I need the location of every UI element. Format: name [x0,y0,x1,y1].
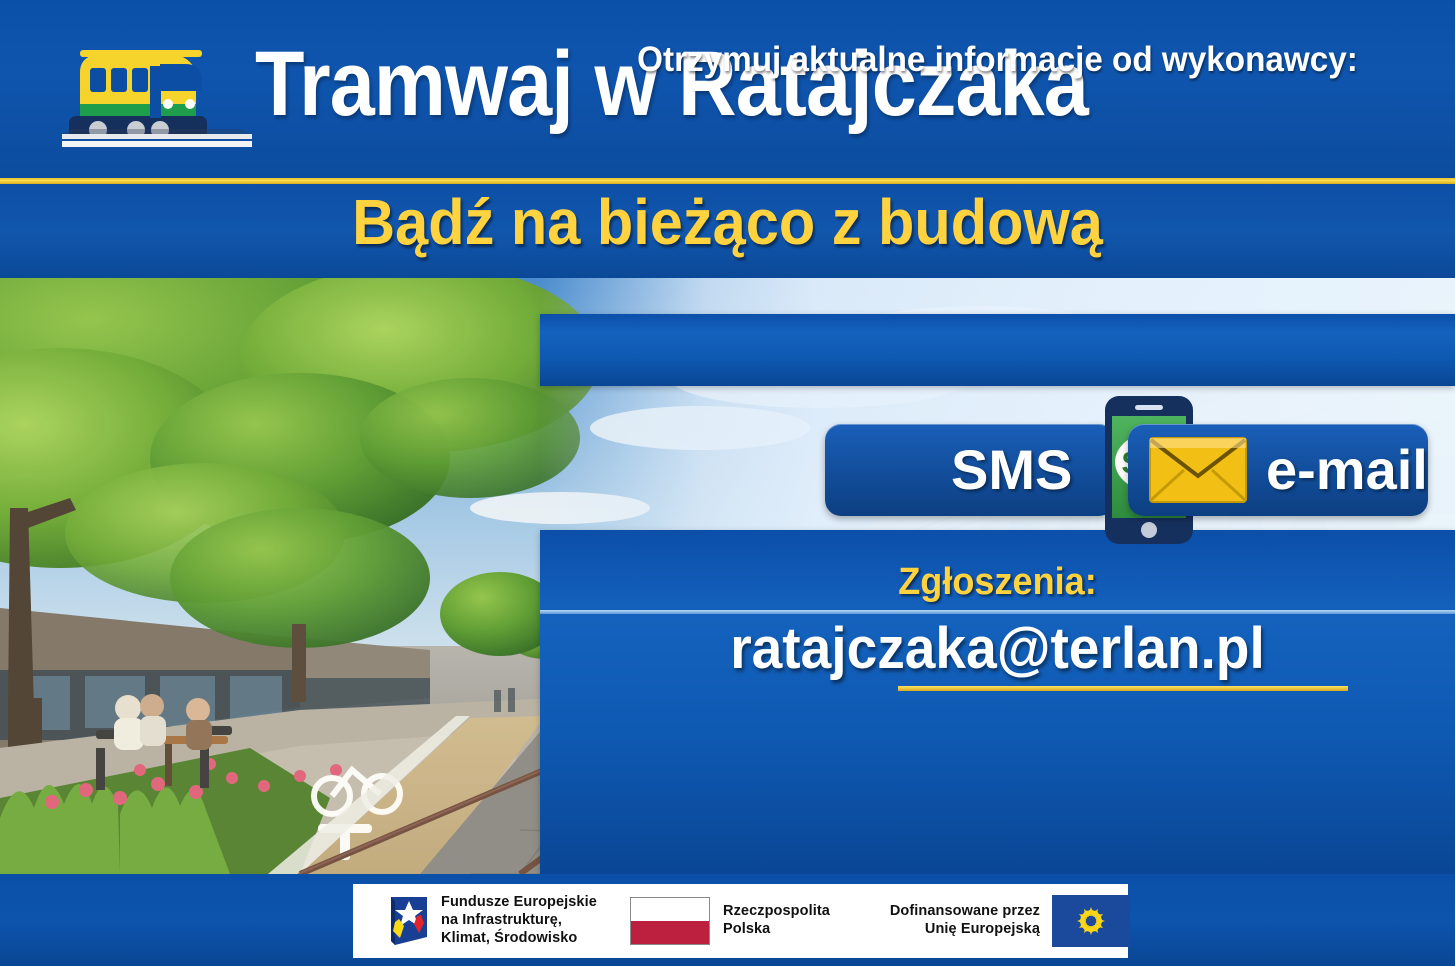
pl-logo-text: Rzeczpospolita Polska [723,903,853,939]
contact-band-separator [540,610,1455,614]
sms-channel-pill[interactable]: SMS SMS [825,424,1115,516]
email-label: e-mail [1266,442,1428,498]
sms-label: SMS [951,442,1072,498]
channel-pill-row: SMS SMS e-mail [540,424,1455,516]
header-bar: Tramwaj w Ratajczaka [0,0,1455,178]
page-subtitle: Bądź na bieżąco z budową [51,190,1404,254]
email-channel-pill[interactable]: e-mail [1128,424,1428,516]
poster: Tramwaj w Ratajczaka Bądź na bieżąco z b… [0,0,1455,966]
logo-unia-europejska: Dofinansowane przez Unię Europejską [853,895,1130,947]
tram-icon [62,42,252,154]
eu-funding-logo-bar: Fundusze Europejskie na Infrastrukturę, … [353,884,1128,958]
contact-label: Zgłoszenia: [563,563,1432,601]
eu-flag-icon [1052,895,1130,947]
contact-email-underline [898,686,1348,691]
logo-rzeczpospolita-polska: Rzeczpospolita Polska [616,897,853,945]
fe-stars-logo [383,893,431,949]
contact-email[interactable]: ratajczaka@terlan.pl [563,620,1432,678]
info-heading: Otrzymuj aktualne informacje od wykonawc… [563,42,1432,77]
logo-fundusze-europejskie: Fundusze Europejskie na Infrastrukturę, … [353,893,616,949]
fe-logo-text: Fundusze Europejskie na Infrastrukturę, … [441,894,616,947]
heading-band [540,314,1455,386]
eu-logo-text: Dofinansowane przez Unię Europejską [865,903,1040,939]
envelope-icon [1148,436,1248,504]
polish-flag-icon [630,897,710,945]
